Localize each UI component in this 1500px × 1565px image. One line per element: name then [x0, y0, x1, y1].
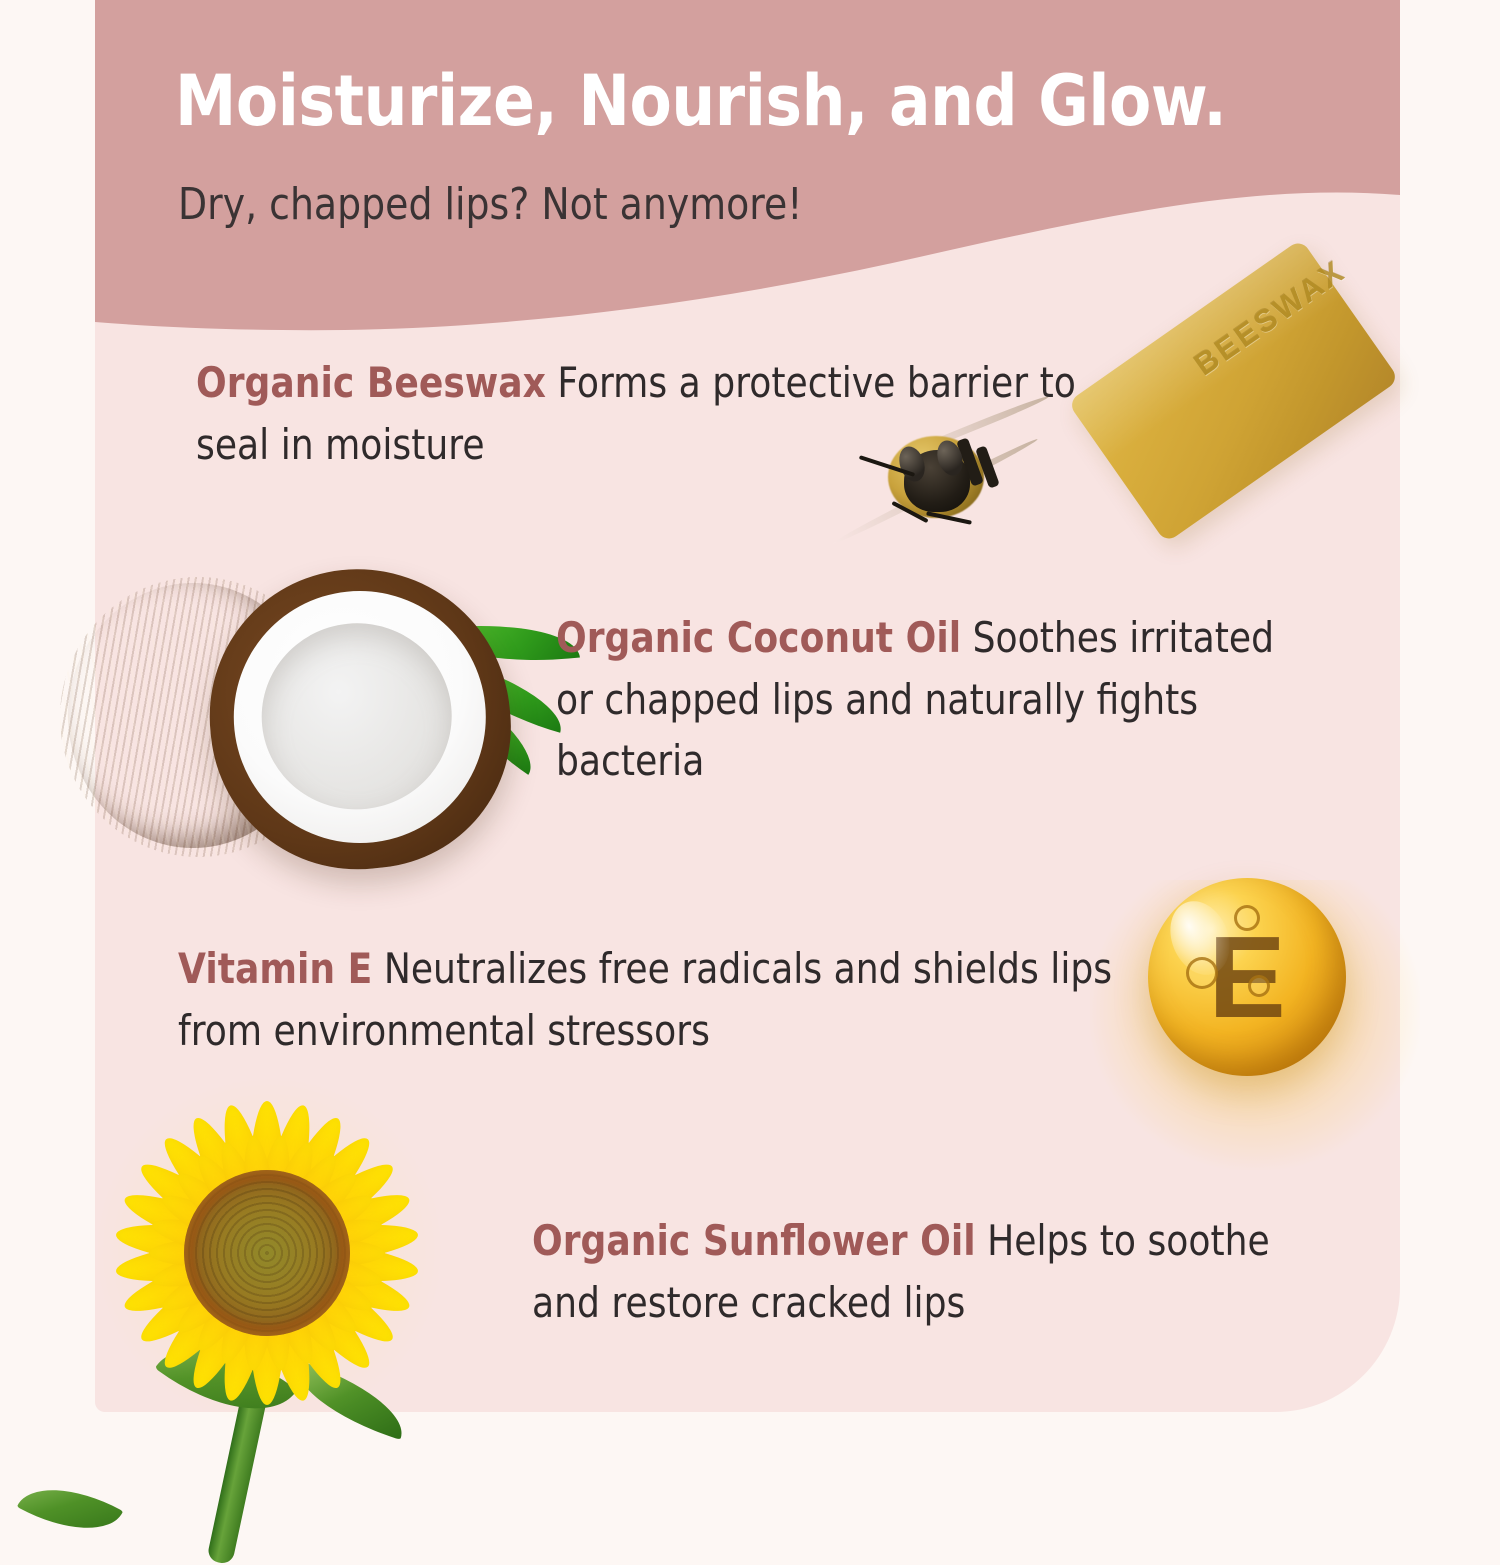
- sunflower-image: [78, 1082, 458, 1462]
- vitamin-e-bubble: [1186, 957, 1218, 989]
- vitamin-e-bubble: [1248, 975, 1270, 997]
- sunflower-leaf: [17, 1466, 123, 1552]
- page-title: Moisturize, Nourish, and Glow.: [175, 64, 1231, 138]
- sunflower-disc-ring: [184, 1170, 350, 1336]
- feature-vitamin-e: Vitamin E Neutralizes free radicals and …: [178, 938, 1141, 1061]
- feature-sunflower-oil: Organic Sunflower Oil Helps to soothe an…: [532, 1210, 1289, 1333]
- vitamin-e-bubble: [1234, 905, 1260, 931]
- sunflower-head: [106, 1092, 428, 1414]
- feature-vitamin-e-lead: Vitamin E: [178, 944, 372, 993]
- infographic-canvas: Moisturize, Nourish, and Glow. Dry, chap…: [0, 0, 1500, 1500]
- beeswax-bar-image: [1055, 245, 1395, 565]
- feature-sunflower-oil-lead: Organic Sunflower Oil: [532, 1216, 976, 1265]
- feature-coconut-oil-lead: Organic Coconut Oil: [556, 613, 961, 662]
- beeswax-bar-shape: [1067, 239, 1399, 543]
- feature-beeswax: Organic Beeswax Forms a protective barri…: [196, 352, 1082, 475]
- feature-beeswax-lead: Organic Beeswax: [196, 358, 546, 407]
- page-subtitle: Dry, chapped lips? Not anymore!: [178, 181, 1124, 229]
- feature-coconut-oil: Organic Coconut Oil Soothes irritated or…: [556, 607, 1296, 792]
- coconut-image: [60, 565, 500, 875]
